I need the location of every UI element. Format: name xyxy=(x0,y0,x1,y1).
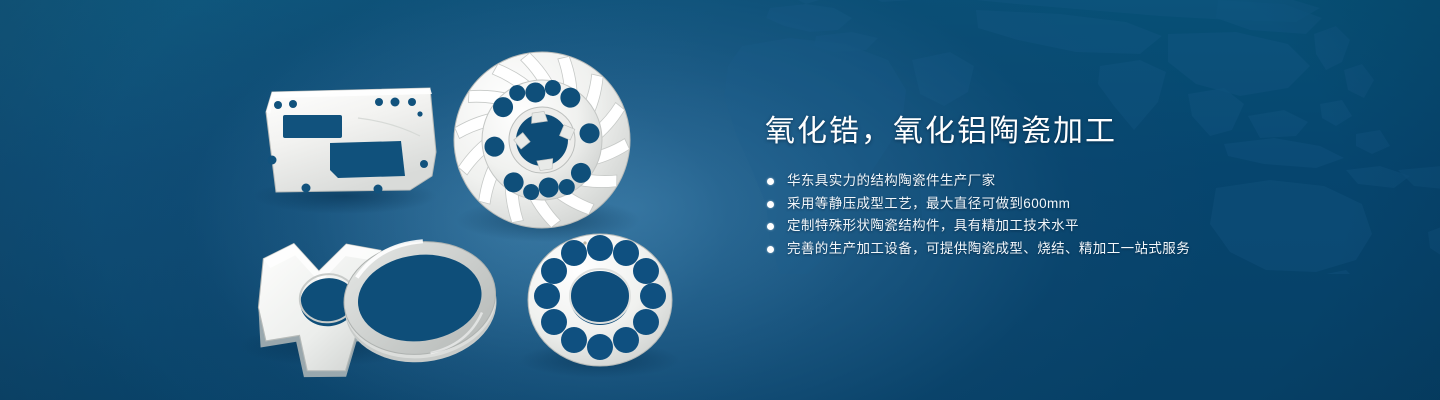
feature-text: 华东具实力的结构陶瓷件生产厂家 xyxy=(787,173,996,188)
feature-text: 采用等静压成型工艺，最大直径可做到600mm xyxy=(787,196,1070,211)
list-item: 定制特殊形状陶瓷结构件，具有精加工技术水平 xyxy=(765,215,1385,238)
ceramic-plate-part xyxy=(266,88,436,194)
ceramic-perforated-disc-part xyxy=(528,234,672,366)
page-title: 氧化锆，氧化铝陶瓷加工 xyxy=(765,112,1385,152)
feature-text: 完善的生产加工设备，可提供陶瓷成型、烧结、精加工一站式服务 xyxy=(787,241,1190,256)
feature-text: 定制特殊形状陶瓷结构件，具有精加工技术水平 xyxy=(787,218,1079,233)
product-montage xyxy=(0,0,720,400)
banner-copy: 氧化锆，氧化铝陶瓷加工 华东具实力的结构陶瓷件生产厂家 采用等静压成型工艺，最大… xyxy=(765,112,1385,260)
list-item: 完善的生产加工设备，可提供陶瓷成型、烧结、精加工一站式服务 xyxy=(765,238,1385,261)
list-item: 采用等静压成型工艺，最大直径可做到600mm xyxy=(765,193,1385,216)
bullet-dot-icon xyxy=(767,246,774,253)
bullet-dot-icon xyxy=(767,201,774,208)
list-item: 华东具实力的结构陶瓷件生产厂家 xyxy=(765,170,1385,193)
feature-list: 华东具实力的结构陶瓷件生产厂家 采用等静压成型工艺，最大直径可做到600mm 定… xyxy=(765,170,1385,260)
hero-banner: 氧化锆，氧化铝陶瓷加工 华东具实力的结构陶瓷件生产厂家 采用等静压成型工艺，最大… xyxy=(0,0,1440,400)
bullet-dot-icon xyxy=(767,178,774,185)
bullet-dot-icon xyxy=(767,223,774,230)
